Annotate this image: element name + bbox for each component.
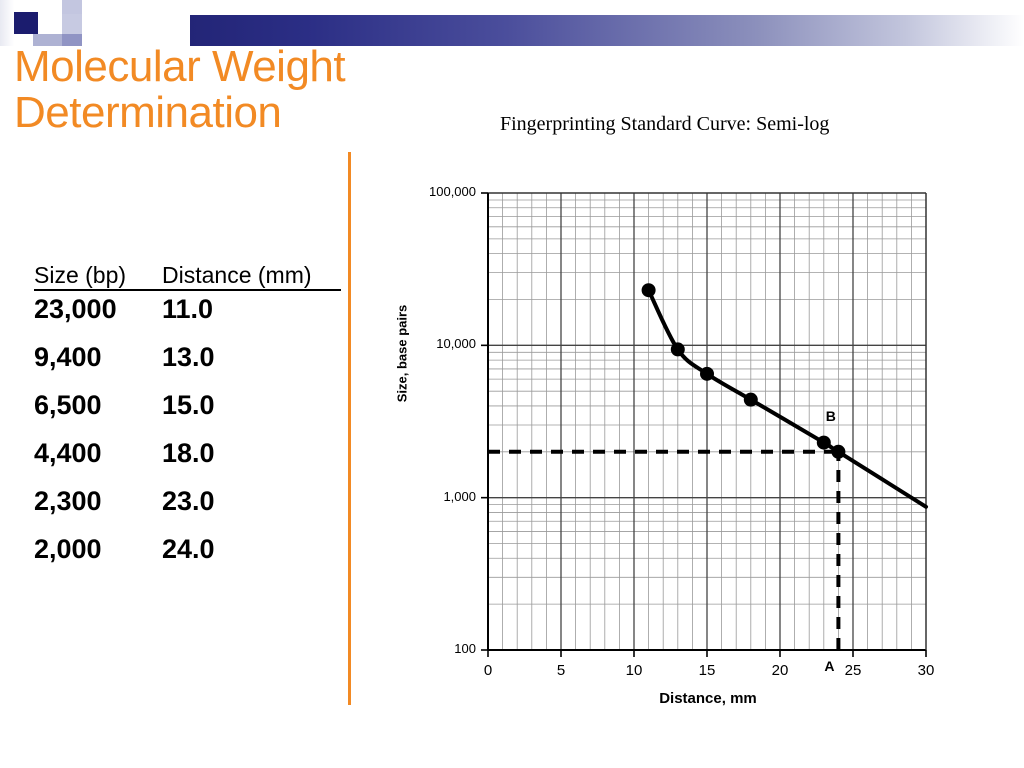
- table-row: 2,000 24.0: [34, 532, 344, 580]
- grid-major: [488, 193, 926, 650]
- table-row: 6,500 15.0: [34, 388, 344, 436]
- y-tick-label: 100,000: [398, 184, 476, 199]
- y-tick-label: 100: [398, 641, 476, 656]
- table-header-row: Size (bp) Distance (mm): [34, 262, 341, 291]
- chart-title: Fingerprinting Standard Curve: Semi-log: [500, 113, 829, 136]
- column-header-size: Size (bp): [34, 262, 162, 289]
- table-row: 23,000 11.0: [34, 292, 344, 340]
- cell-distance: 18.0: [162, 436, 341, 484]
- size-distance-table: Size (bp) Distance (mm) 23,000 11.0 9,40…: [34, 262, 344, 580]
- x-tick-label: 15: [687, 662, 727, 679]
- data-point: [700, 367, 714, 381]
- table-row: 2,300 23.0: [34, 484, 344, 532]
- x-tick-label: 30: [906, 662, 946, 679]
- header-square-light-top: [62, 0, 82, 14]
- cell-size: 6,500: [34, 388, 162, 436]
- cell-distance: 24.0: [162, 532, 341, 580]
- plot-canvas: [380, 170, 980, 715]
- standard-curve: [649, 290, 926, 507]
- data-point: [671, 342, 685, 356]
- y-tick-label: 1,000: [398, 489, 476, 504]
- x-tick-label: 5: [541, 662, 581, 679]
- header-decoration-band: [0, 0, 1024, 46]
- header-square-fade: [0, 0, 14, 46]
- header-square-light-mid: [62, 14, 82, 34]
- column-header-distance: Distance (mm): [162, 262, 341, 289]
- cell-distance: 11.0: [162, 292, 341, 340]
- vertical-divider: [348, 152, 351, 705]
- x-axis-label: Distance, mm: [488, 690, 928, 707]
- cell-distance: 23.0: [162, 484, 341, 532]
- cell-size: 23,000: [34, 292, 162, 340]
- data-point: [831, 445, 845, 459]
- x-tick-label: 20: [760, 662, 800, 679]
- data-point: [642, 283, 656, 297]
- x-tick-label: 25: [833, 662, 873, 679]
- x-tick-label: 10: [614, 662, 654, 679]
- data-points: [642, 283, 846, 459]
- x-tick-label: 0: [468, 662, 508, 679]
- data-point: [744, 393, 758, 407]
- annotation-a: A: [824, 658, 834, 674]
- cell-distance: 13.0: [162, 340, 341, 388]
- cell-size: 2,000: [34, 532, 162, 580]
- slide-title: Molecular Weight Determination: [14, 44, 354, 136]
- cell-size: 4,400: [34, 436, 162, 484]
- y-axis-label: Size, base pairs: [395, 284, 410, 424]
- semilog-chart: Size, base pairs Distance, mm 1001,00010…: [380, 170, 980, 715]
- table-row: 4,400 18.0: [34, 436, 344, 484]
- cell-size: 9,400: [34, 340, 162, 388]
- y-tick-label: 10,000: [398, 336, 476, 351]
- data-point: [817, 436, 831, 450]
- annotation-b: B: [826, 408, 836, 424]
- cell-size: 2,300: [34, 484, 162, 532]
- header-square-dark: [14, 12, 38, 34]
- table-row: 9,400 13.0: [34, 340, 344, 388]
- cell-distance: 15.0: [162, 388, 341, 436]
